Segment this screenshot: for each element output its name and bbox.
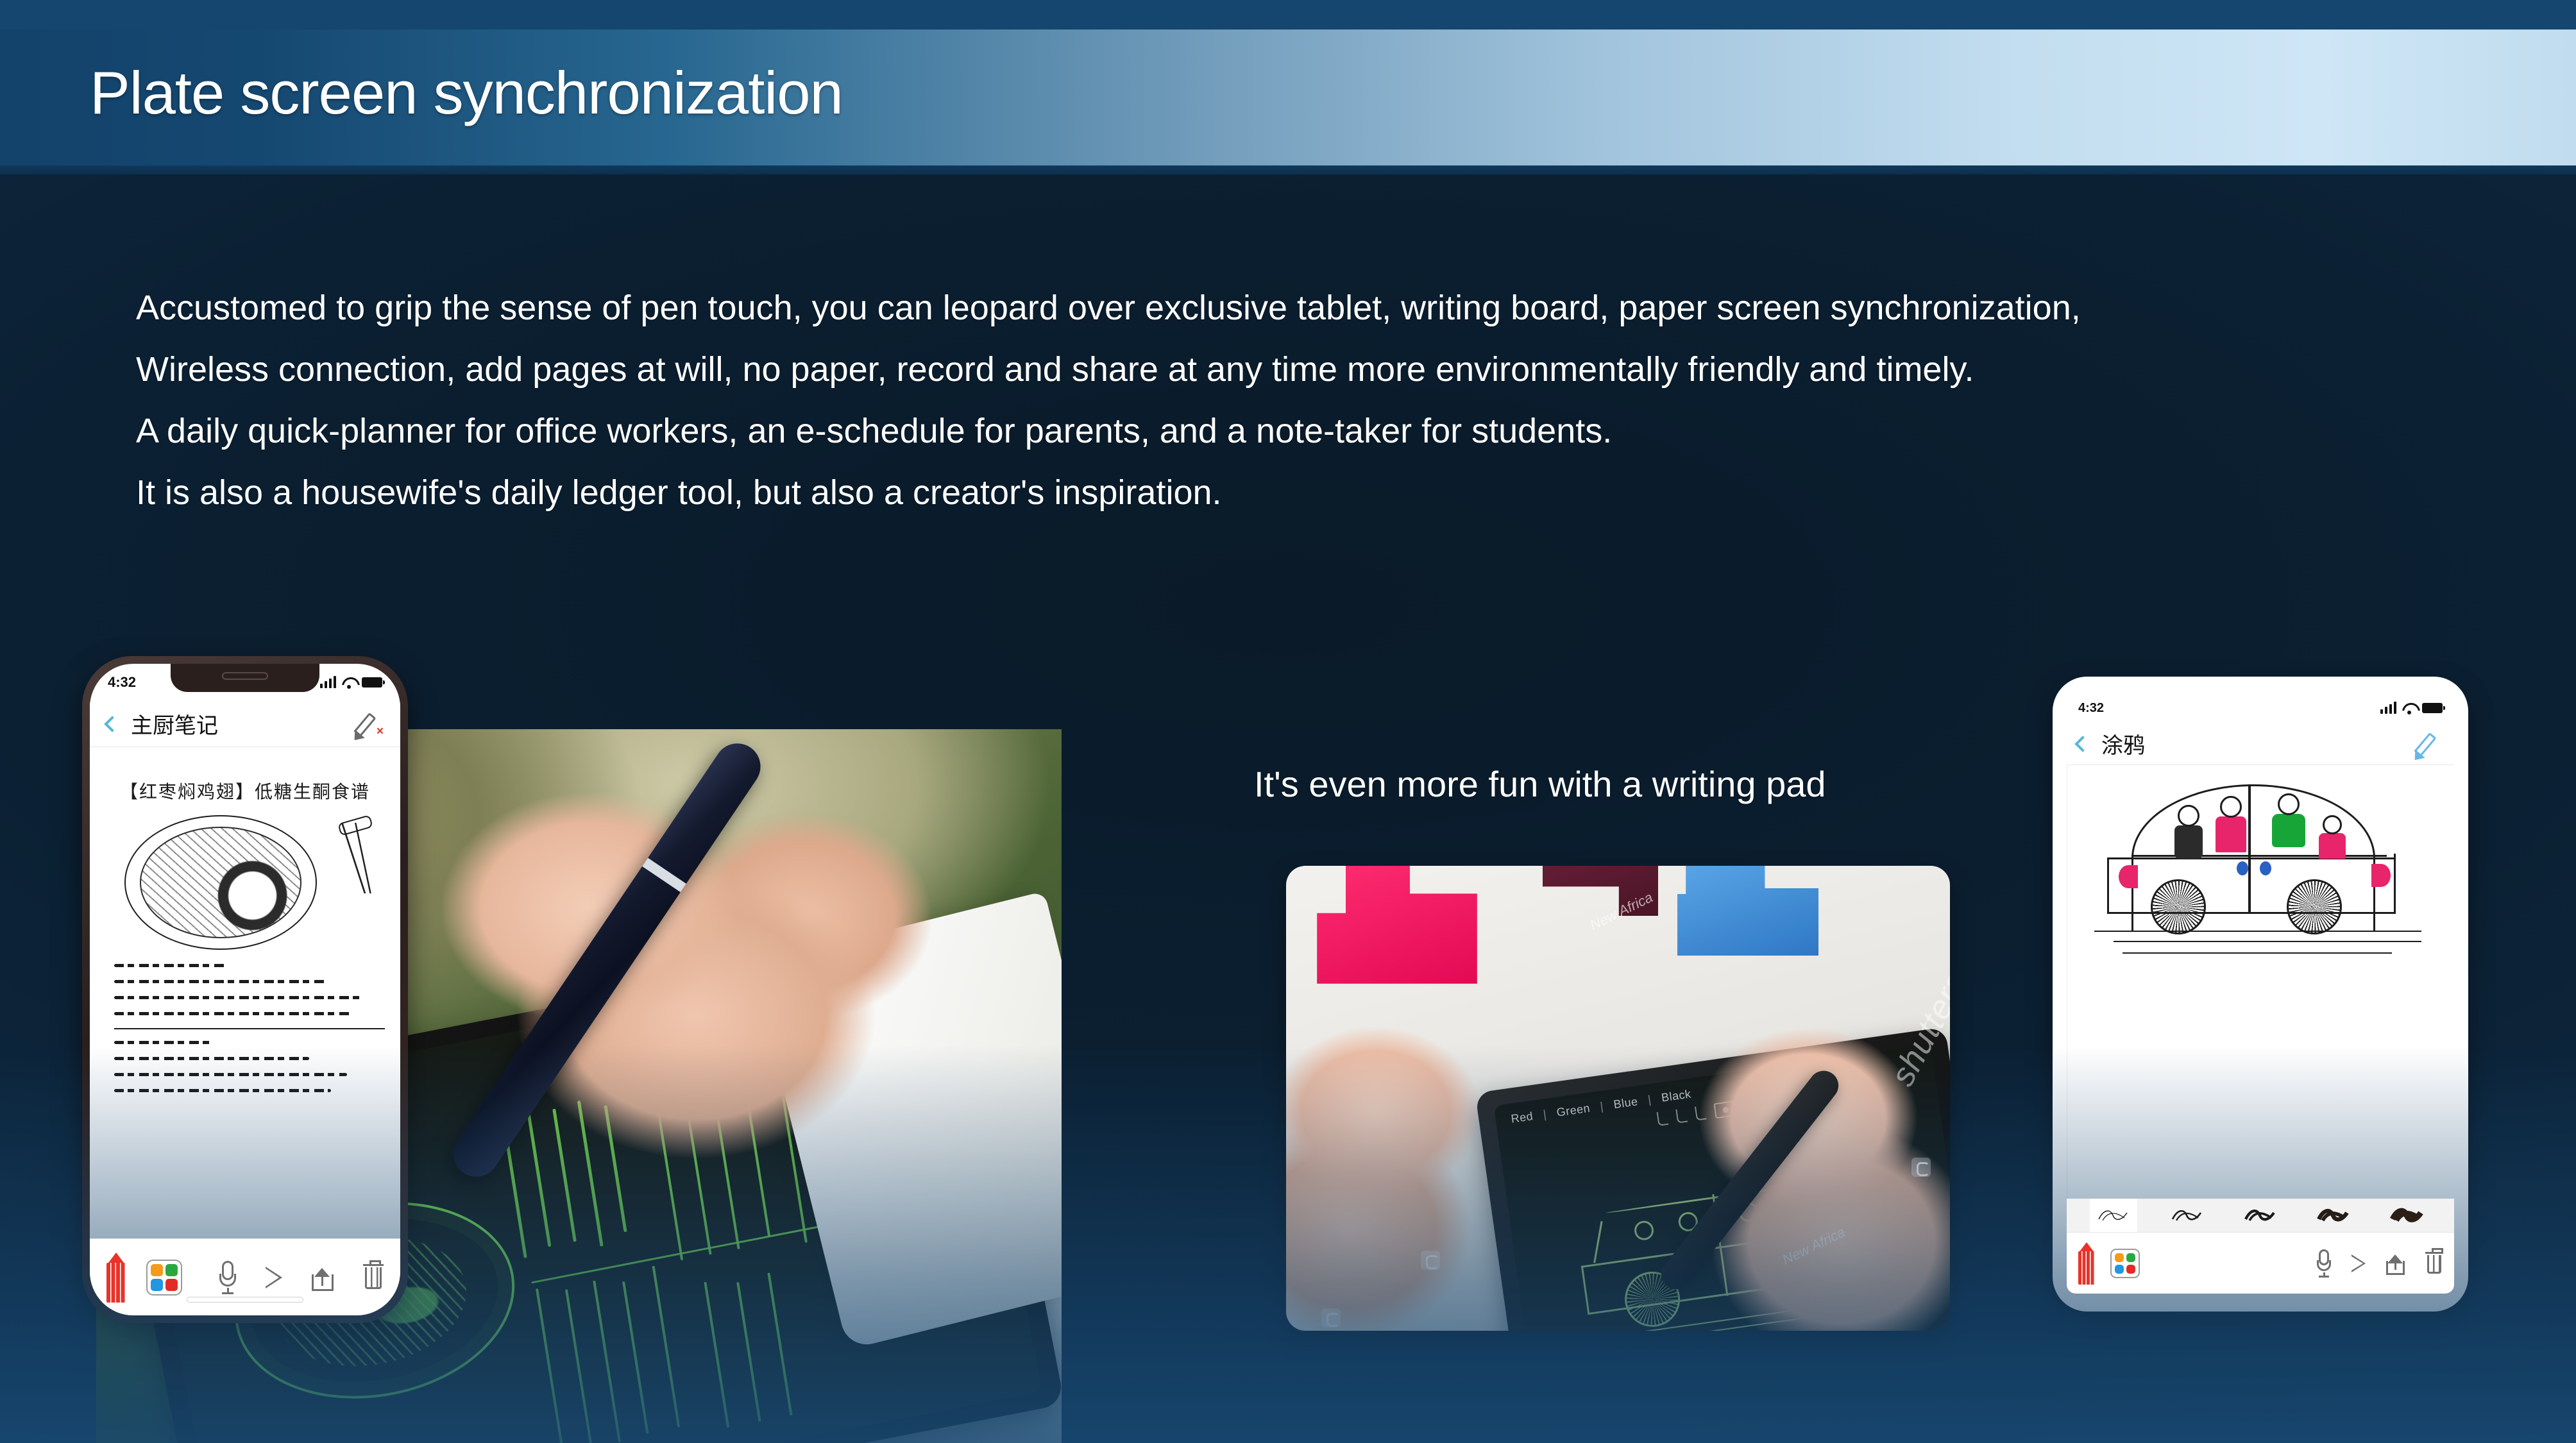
earpiece-speaker <box>222 672 268 680</box>
label-separator: | <box>1645 1093 1655 1108</box>
microphone-icon[interactable] <box>219 1261 236 1294</box>
signal-bars-icon <box>2380 702 2397 714</box>
trash-icon[interactable] <box>2425 1252 2443 1275</box>
status-time: 4:32 <box>2078 701 2104 716</box>
body-line-4: It is also a housewife's daily ledger to… <box>136 462 2419 523</box>
phone-mockup-left: 4:32 主厨笔记 × 【红枣焖鸡翅】低糖生酮 <box>82 656 408 1323</box>
play-icon[interactable] <box>2351 1254 2366 1272</box>
doodle-canvas[interactable] <box>2067 765 2454 1199</box>
watermark-mark-icon <box>1421 1251 1440 1270</box>
label-blue: Blue <box>1610 1095 1641 1112</box>
stroke-option-heavy[interactable] <box>2384 1199 2431 1232</box>
nav-title: 涂鸦 <box>2101 728 2145 759</box>
slide-canvas: Plate screen synchronization Accustomed … <box>0 0 2576 1443</box>
play-icon[interactable] <box>266 1267 282 1288</box>
drawing-person-driver <box>2178 805 2203 859</box>
back-chevron-icon[interactable] <box>2074 736 2090 752</box>
signal-bars-icon <box>320 677 337 688</box>
status-bar: 4:32 <box>2067 693 2454 723</box>
stroke-option-medium[interactable] <box>2237 1199 2284 1232</box>
handwritten-title: 【红枣焖鸡翅】低糖生酮食谱 <box>120 778 370 804</box>
stroke-option-light[interactable] <box>2164 1199 2211 1232</box>
body-line-2: Wireless connection, add pages at will, … <box>136 339 2419 400</box>
bowl-of-food-sketch <box>124 815 317 950</box>
car-wheel <box>2151 879 2206 934</box>
body-paragraph: Accustomed to grip the sense of pen touc… <box>136 277 2419 523</box>
stroke-option-bold[interactable] <box>2310 1199 2357 1232</box>
color-palette-icon[interactable] <box>2110 1249 2140 1278</box>
drawing-person-girl <box>2323 815 2348 859</box>
toy-brick-blue <box>1677 866 1818 956</box>
note-toolbar <box>2067 1232 2454 1294</box>
body-line-3: A daily quick-planner for office workers… <box>136 400 2419 462</box>
pencil-x-badge: × <box>377 725 384 738</box>
watermark-mark-icon <box>1321 1308 1341 1328</box>
phone-screen: 4:32 涂鸦 <box>2067 693 2454 1294</box>
trash-icon[interactable] <box>363 1264 384 1291</box>
share-icon[interactable] <box>312 1264 334 1291</box>
nav-title: 主厨笔记 <box>131 708 218 739</box>
chopsticks-sketch <box>330 823 381 893</box>
page-title: Plate screen synchronization <box>90 63 843 123</box>
phone-frame: 4:32 涂鸦 <box>2053 677 2468 1312</box>
toy-brick-pink <box>1317 866 1477 984</box>
pencil-glyph <box>2414 732 2436 756</box>
battery-icon <box>2422 703 2443 713</box>
status-icons <box>320 677 383 688</box>
phone-mockup-right: 4:32 涂鸦 <box>2053 677 2468 1312</box>
header-top-strip <box>0 0 2576 30</box>
nav-bar: 主厨笔记 × <box>90 701 400 747</box>
center-caption: It's even more fun with a writing pad <box>1254 763 1826 805</box>
label-separator: | <box>1597 1099 1607 1114</box>
header-bottom-strip <box>0 165 2576 174</box>
toy-brick-maroon <box>1543 866 1658 916</box>
status-time: 4:32 <box>108 674 136 691</box>
body-line-1: Accustomed to grip the sense of pen touc… <box>136 277 2419 339</box>
back-chevron-icon[interactable] <box>104 716 120 732</box>
notch <box>171 664 319 692</box>
red-pencil-icon[interactable] <box>106 1253 126 1303</box>
battery-icon <box>362 677 382 688</box>
stroke-width-picker <box>2067 1199 2454 1232</box>
pencil-edit-icon[interactable]: × <box>355 710 384 738</box>
note-toolbar <box>90 1238 400 1315</box>
label-red: Red <box>1507 1110 1536 1127</box>
phone-frame: 4:32 主厨笔记 × 【红枣焖鸡翅】低糖生酮 <box>82 656 408 1323</box>
phone-screen: 4:32 主厨笔记 × 【红枣焖鸡翅】低糖生酮 <box>90 664 400 1315</box>
label-separator: | <box>1540 1108 1550 1122</box>
nav-bar: 涂鸦 <box>2067 723 2454 765</box>
hand-right <box>1655 1026 1950 1331</box>
childrens-drawing-family-in-car <box>2094 782 2428 968</box>
red-pencil-icon[interactable] <box>2078 1242 2095 1285</box>
car-wheel <box>2287 879 2342 934</box>
photo-child-drawing-tablet: Red | Green | Blue | Black <box>1286 866 1950 1331</box>
drawing-person-boy <box>2278 793 2303 847</box>
microphone-icon[interactable] <box>2317 1249 2331 1278</box>
stroke-option-thin[interactable] <box>2090 1199 2137 1232</box>
pencil-glyph <box>353 712 376 736</box>
color-palette-icon[interactable] <box>146 1260 182 1295</box>
handwritten-recipe-notes <box>114 964 385 1105</box>
label-green: Green <box>1553 1101 1593 1120</box>
pencil-edit-icon[interactable] <box>2416 730 2444 758</box>
wifi-icon <box>2402 703 2416 714</box>
share-icon[interactable] <box>2386 1252 2405 1275</box>
wifi-icon <box>342 677 356 688</box>
toolbar-right-icons <box>2317 1249 2443 1278</box>
watermark-mark-icon <box>1911 1158 1931 1177</box>
status-icons <box>2380 702 2443 714</box>
note-canvas[interactable]: 【红枣焖鸡翅】低糖生酮食谱 <box>90 747 400 1238</box>
toolbar-right-icons <box>219 1261 384 1294</box>
home-indicator[interactable] <box>187 1297 303 1303</box>
drawing-person-mother <box>2220 796 2246 852</box>
